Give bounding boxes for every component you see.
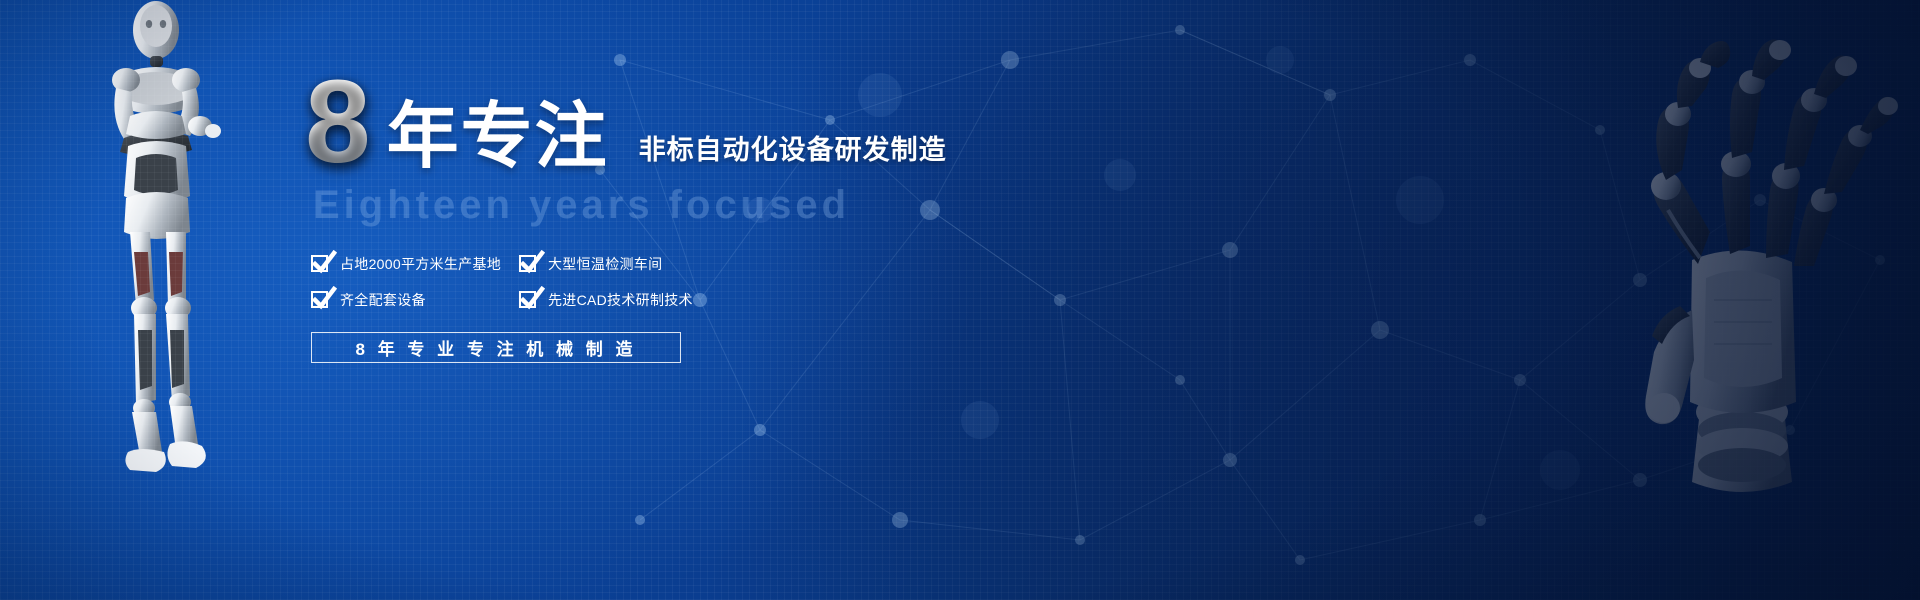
checkbox-checked-icon — [311, 255, 328, 272]
headline-row: 8 年专注 非标自动化设备研发制造 — [305, 68, 1065, 177]
promo-banner: 8 年专注 非标自动化设备研发制造 Eighteen years focused… — [0, 0, 1920, 600]
feature-label: 齐全配套设备 — [340, 290, 426, 310]
feature-item: 占地2000平方米生产基地 — [311, 254, 519, 274]
feature-label: 占地2000平方米生产基地 — [340, 254, 501, 274]
feature-item: 大型恒温检测车间 — [519, 254, 739, 274]
feature-label: 先进CAD技术研制技术 — [548, 290, 693, 310]
english-tagline: Eighteen years focused — [313, 183, 1065, 228]
cta-banner-box[interactable]: 8 年 专 业 专 注 机 械 制 造 — [311, 332, 681, 363]
headline-suffix: 年专注 — [387, 101, 609, 177]
headline-number: 8 — [305, 68, 369, 177]
banner-subtitle: 非标自动化设备研发制造 — [639, 128, 947, 177]
feature-item: 先进CAD技术研制技术 — [519, 290, 739, 310]
feature-item: 齐全配套设备 — [311, 290, 519, 310]
checkbox-checked-icon — [311, 291, 328, 308]
humanoid-robot-figure — [70, 0, 260, 490]
banner-content: 8 年专注 非标自动化设备研发制造 Eighteen years focused… — [305, 68, 1065, 363]
feature-label: 大型恒温检测车间 — [548, 254, 662, 274]
feature-list: 占地2000平方米生产基地 大型恒温检测车间 齐全配套设备 先进CAD技术研制技… — [311, 254, 1065, 310]
checkbox-checked-icon — [519, 291, 536, 308]
cta-label: 8 年 专 业 专 注 机 械 制 造 — [356, 335, 637, 360]
robotic-hand-figure — [1580, 10, 1900, 500]
checkbox-checked-icon — [519, 255, 536, 272]
